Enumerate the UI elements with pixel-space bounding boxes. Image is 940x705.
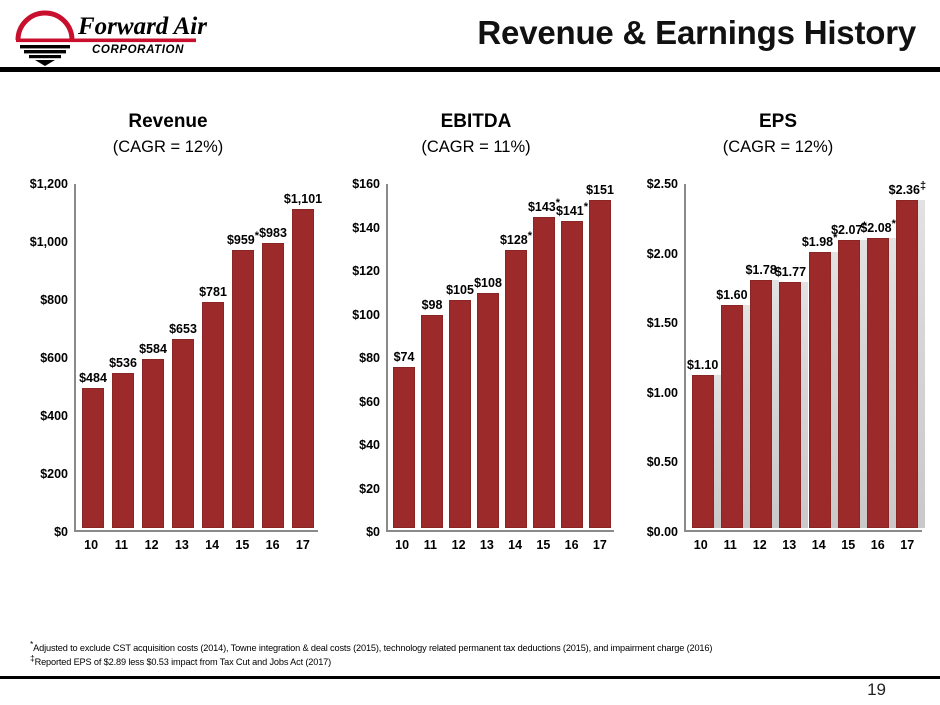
bar-slot: $108	[474, 184, 502, 528]
x-tick-label: 15	[841, 538, 855, 552]
x-tick-label: 10	[84, 538, 98, 552]
logo-stripe-icon	[29, 55, 61, 58]
x-tick-label: 16	[266, 538, 280, 552]
bar-slot: $484	[78, 184, 108, 528]
forward-air-logo-mark: Forward Air CORPORATION	[8, 4, 248, 66]
bar[interactable]	[477, 293, 498, 528]
x-tick-label: 15	[536, 538, 550, 552]
bar-value-label: $2.08*	[860, 221, 896, 235]
chart-revenue-subtitle: (CAGR = 12%)	[8, 136, 328, 158]
bar[interactable]	[232, 250, 255, 528]
logo-arc-icon	[18, 13, 72, 40]
bar-value-label: $1.77	[775, 265, 806, 279]
bar-slot: $1.78	[747, 184, 776, 528]
bar-value-label: $781	[199, 285, 227, 299]
x-tick-label: 17	[296, 538, 310, 552]
footnote-text-1: Adjusted to exclude CST acquisition cost…	[33, 643, 712, 653]
y-tick-label: $2.00	[647, 247, 678, 261]
bar-value-label: $141*	[556, 204, 588, 218]
y-tick-label: $0	[54, 525, 68, 539]
logo-stripe-icon	[24, 50, 66, 53]
y-tick-label: $0.50	[647, 455, 678, 469]
logo-subtext: CORPORATION	[92, 44, 184, 56]
x-tick-label: 10	[694, 538, 708, 552]
x-tick-label: 13	[175, 538, 189, 552]
bar-value-label: $1.10	[687, 358, 718, 372]
chart-revenue: Revenue (CAGR = 12%) $0$200$400$600$800$…	[8, 78, 328, 628]
chart-ebitda-bars: $74$98$105$108$128*$143*$141*$151	[390, 184, 614, 528]
bar[interactable]	[449, 300, 470, 528]
bar[interactable]	[896, 200, 918, 529]
y-tick-label: $1,200	[30, 177, 68, 191]
y-tick-label: $1.00	[647, 386, 678, 400]
bar[interactable]	[589, 200, 610, 528]
bar-value-label: $2.36‡	[889, 183, 926, 197]
bar-slot: $1,101	[288, 184, 318, 528]
chart-ebitda-title: EBITDA	[330, 110, 622, 134]
bar[interactable]	[561, 221, 582, 528]
footer-divider	[0, 676, 940, 679]
x-tick-label: 14	[508, 538, 522, 552]
x-tick-label: 15	[235, 538, 249, 552]
bar-slot: $653	[168, 184, 198, 528]
chart-revenue-plot-area: $484$536$584$653$781$959*$983$1,101	[74, 184, 318, 532]
chart-eps-bars: $1.10$1.60$1.78$1.77$1.98*$2.07*$2.08*$2…	[688, 184, 922, 528]
bar-slot: $141*	[558, 184, 586, 528]
bar-slot: $1.98*	[805, 184, 834, 528]
bar-slot: $143*	[530, 184, 558, 528]
bar-slot: $584	[138, 184, 168, 528]
logo-wordmark: Forward Air	[77, 13, 207, 40]
chart-eps: EPS (CAGR = 12%) $0.00$0.50$1.00$1.50$2.…	[622, 78, 934, 628]
bar-value-label: $1.98*	[802, 235, 838, 249]
chart-eps-title: EPS	[622, 110, 934, 134]
chart-revenue-y-axis: $0$200$400$600$800$1,000$1,200	[12, 184, 74, 532]
bar[interactable]	[202, 302, 225, 528]
bar[interactable]	[172, 339, 195, 528]
logo-stripe-icon	[20, 45, 70, 48]
page-header: Forward Air CORPORATION Revenue & Earnin…	[0, 0, 940, 72]
bar[interactable]	[838, 240, 860, 528]
bar-value-label: $959*	[227, 233, 259, 247]
x-tick-label: 17	[593, 538, 607, 552]
chart-ebitda-y-axis: $0$20$40$60$80$100$120$140$160	[330, 184, 386, 532]
footnote-line-1: *Adjusted to exclude CST acquisition cos…	[30, 642, 910, 656]
bar-slot: $959*	[228, 184, 258, 528]
bar-value-label: $983	[259, 226, 287, 240]
y-tick-label: $60	[359, 395, 380, 409]
charts-container: Revenue (CAGR = 12%) $0$200$400$600$800$…	[0, 78, 940, 628]
bar[interactable]	[421, 315, 442, 528]
y-tick-label: $400	[40, 409, 68, 423]
y-tick-label: $40	[359, 438, 380, 452]
chart-ebitda-plot-wrap: $0$20$40$60$80$100$120$140$160 $74$98$10…	[330, 184, 622, 574]
chart-revenue-bars: $484$536$584$653$781$959*$983$1,101	[78, 184, 318, 528]
bar-value-label: $151	[586, 183, 614, 197]
bar[interactable]	[112, 373, 135, 528]
footnote-line-2: ‡Reported EPS of $2.89 less $0.53 impact…	[30, 656, 910, 670]
bar-value-label: $484	[79, 371, 107, 385]
bar-slot: $98	[418, 184, 446, 528]
bar-label-marker: ‡	[920, 179, 926, 191]
y-tick-label: $600	[40, 351, 68, 365]
x-tick-label: 11	[724, 538, 737, 552]
y-tick-label: $800	[40, 293, 68, 307]
bar-slot: $128*	[502, 184, 530, 528]
bar-value-label: $1,101	[284, 192, 322, 206]
x-tick-label: 11	[424, 538, 437, 552]
y-tick-label: $80	[359, 351, 380, 365]
bar-value-label: $98	[422, 298, 443, 312]
y-tick-label: $0.00	[647, 525, 678, 539]
bar-slot: $1.60	[717, 184, 746, 528]
page-number: 19	[867, 680, 886, 700]
bar-slot: $74	[390, 184, 418, 528]
bar[interactable]	[867, 238, 889, 528]
bar-value-label: $653	[169, 322, 197, 336]
y-tick-label: $1.50	[647, 316, 678, 330]
x-tick-label: 17	[900, 538, 914, 552]
bar[interactable]	[779, 282, 801, 528]
x-tick-label: 13	[782, 538, 796, 552]
x-tick-label: 13	[480, 538, 494, 552]
bar[interactable]	[750, 280, 772, 528]
bar-slot: $105	[446, 184, 474, 528]
bar[interactable]	[393, 367, 414, 528]
bar-slot: $2.36‡	[893, 184, 922, 528]
chart-eps-plot-wrap: $0.00$0.50$1.00$1.50$2.00$2.50 $1.10$1.6…	[622, 184, 934, 574]
chart-ebitda-subtitle: (CAGR = 11%)	[330, 136, 622, 158]
x-tick-label: 16	[565, 538, 579, 552]
x-tick-label: 14	[205, 538, 219, 552]
bar[interactable]	[142, 359, 165, 528]
x-tick-label: 16	[871, 538, 885, 552]
bar[interactable]	[262, 243, 285, 528]
bar-value-label: $1.78	[745, 263, 776, 277]
y-tick-label: $140	[352, 221, 380, 235]
chart-revenue-plot-wrap: $0$200$400$600$800$1,000$1,200 $484$536$…	[8, 184, 328, 574]
bar-slot: $983	[258, 184, 288, 528]
bar-value-label: $74	[394, 350, 415, 364]
bar-slot: $1.77	[776, 184, 805, 528]
x-tick-label: 14	[812, 538, 826, 552]
x-tick-label: 12	[452, 538, 466, 552]
y-tick-label: $2.50	[647, 177, 678, 191]
chart-revenue-x-axis: 1011121314151617	[76, 534, 318, 558]
chart-ebitda-x-axis: 1011121314151617	[388, 534, 614, 558]
bar[interactable]	[505, 250, 526, 528]
bar-slot: $781	[198, 184, 228, 528]
bar-slot: $2.07*	[834, 184, 863, 528]
bar-slot: $1.10	[688, 184, 717, 528]
bar[interactable]	[721, 305, 743, 528]
y-tick-label: $200	[40, 467, 68, 481]
y-tick-label: $160	[352, 177, 380, 191]
chart-ebitda: EBITDA (CAGR = 11%) $0$20$40$60$80$100$1…	[330, 78, 622, 628]
chart-eps-y-axis: $0.00$0.50$1.00$1.50$2.00$2.50	[622, 184, 684, 532]
page-title: Revenue & Earnings History	[477, 14, 916, 52]
bar-slot: $151	[586, 184, 614, 528]
forward-air-logo: Forward Air CORPORATION	[8, 4, 248, 66]
logo-stripe-tip-icon	[35, 60, 55, 66]
bar[interactable]	[809, 252, 831, 528]
bar[interactable]	[82, 388, 105, 528]
bar[interactable]	[692, 375, 714, 528]
x-tick-label: 10	[395, 538, 409, 552]
bar-value-label: $584	[139, 342, 167, 356]
y-tick-label: $120	[352, 264, 380, 278]
bar-slot: $536	[108, 184, 138, 528]
chart-eps-x-axis: 1011121314151617	[686, 534, 922, 558]
y-tick-label: $0	[366, 525, 380, 539]
y-tick-label: $20	[359, 482, 380, 496]
bar-value-label: $105	[446, 283, 474, 297]
y-tick-label: $1,000	[30, 235, 68, 249]
y-tick-label: $100	[352, 308, 380, 322]
chart-ebitda-plot-area: $74$98$105$108$128*$143*$141*$151	[386, 184, 614, 532]
x-tick-label: 11	[115, 538, 128, 552]
chart-eps-plot-area: $1.10$1.60$1.78$1.77$1.98*$2.07*$2.08*$2…	[684, 184, 922, 532]
bar-value-label: $128*	[500, 233, 532, 247]
bar[interactable]	[533, 217, 554, 528]
bar-value-label: $1.60	[716, 288, 747, 302]
x-tick-label: 12	[753, 538, 767, 552]
chart-revenue-title: Revenue	[8, 110, 328, 134]
chart-eps-subtitle: (CAGR = 12%)	[622, 136, 934, 158]
footnotes: *Adjusted to exclude CST acquisition cos…	[30, 642, 910, 669]
x-tick-label: 12	[145, 538, 159, 552]
header-divider	[0, 67, 940, 72]
footnote-text-2: Reported EPS of $2.89 less $0.53 impact …	[35, 657, 331, 667]
bar-value-label: $536	[109, 356, 137, 370]
bar[interactable]	[292, 209, 315, 528]
bar-slot: $2.08*	[864, 184, 893, 528]
bar-value-label: $108	[474, 276, 502, 290]
